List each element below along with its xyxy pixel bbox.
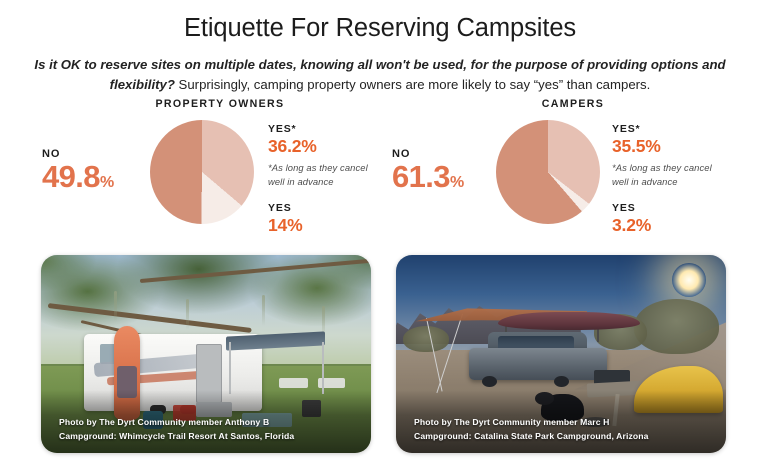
legend-label-yes-star: YES*	[268, 123, 368, 135]
truck-tire	[482, 376, 497, 387]
canoe	[498, 312, 640, 330]
no-value-number: 61.3	[392, 159, 450, 194]
photo-campground: Campground: Catalina State Park Campgrou…	[414, 430, 726, 443]
no-callout-campers: NO 61.3%	[392, 148, 464, 192]
no-callout-property-owners: NO 49.8%	[42, 148, 114, 192]
desert-bush	[634, 299, 720, 354]
legend-note-yes-star: *As long as they cancel well in advance	[612, 161, 712, 188]
legend-note-line2: well in advance	[268, 175, 368, 189]
photo-credit: Photo by The Dyrt Community member Antho…	[59, 416, 371, 429]
photo-card-marc-h[interactable]: Photo by The Dyrt Community member Marc …	[396, 255, 726, 453]
legend-item-yes: YES 3.2%	[612, 202, 712, 237]
chart-heading-campers: CAMPERS	[372, 98, 752, 110]
subtitle-answer: Surprisingly, camping property owners ar…	[175, 77, 650, 92]
chart-heading-property-owners: PROPERTY OWNERS	[0, 98, 380, 110]
charts-row: PROPERTY OWNERS NO 49.8% YES* 36.2% *As …	[0, 96, 760, 246]
spanish-moss	[262, 295, 265, 327]
subtitle: Is it OK to reserve sites on multiple da…	[30, 55, 730, 95]
pickup-truck	[469, 348, 608, 380]
header: Etiquette For Reserving Campsites Is it …	[0, 0, 760, 95]
legend-note-yes-star: *As long as they cancel well in advance	[268, 161, 368, 188]
no-value-text: 49.8%	[42, 161, 114, 192]
spanish-moss	[186, 299, 189, 331]
legend-value-yes: 14%	[268, 215, 368, 237]
legend-note-line2: well in advance	[612, 175, 712, 189]
photo-campground: Campground: Whimcycle Trail Resort At Sa…	[59, 430, 371, 443]
photo-credit: Photo by The Dyrt Community member Marc …	[414, 416, 726, 429]
legend-value-yes: 3.2%	[612, 215, 712, 237]
legend-item-yes-star: YES* 35.5% *As long as they cancel well …	[612, 123, 712, 188]
sun	[672, 263, 706, 297]
spanish-moss	[114, 291, 117, 323]
awning-post	[322, 342, 324, 393]
no-percent-symbol: %	[100, 174, 114, 191]
pie-chart-property-owners	[150, 120, 254, 224]
photo-caption-anthony-b: Photo by The Dyrt Community member Antho…	[41, 390, 371, 453]
awning-post	[229, 342, 231, 393]
pie-chart-campers	[496, 120, 600, 224]
no-value-text: 61.3%	[392, 161, 464, 192]
distant-rv	[279, 378, 309, 388]
photos-row: Photo by The Dyrt Community member Antho…	[0, 255, 760, 457]
legend-note-line1: *As long as they cancel	[612, 161, 712, 175]
legend-note-line1: *As long as they cancel	[268, 161, 368, 175]
legend-item-yes-star: YES* 36.2% *As long as they cancel well …	[268, 123, 368, 188]
legend-value-yes-star: 35.5%	[612, 136, 712, 158]
photo-caption-marc-h: Photo by The Dyrt Community member Marc …	[396, 390, 726, 453]
legend-label-yes: YES	[612, 202, 712, 214]
legend-campers: YES* 35.5% *As long as they cancel well …	[612, 123, 712, 237]
legend-label-yes: YES	[268, 202, 368, 214]
legend-value-yes-star: 36.2%	[268, 136, 368, 158]
no-percent-symbol: %	[450, 174, 464, 191]
desert-bush	[403, 326, 449, 352]
chart-property-owners: PROPERTY OWNERS NO 49.8% YES* 36.2% *As …	[0, 96, 380, 246]
legend-item-yes: YES 14%	[268, 202, 368, 237]
legend-property-owners: YES* 36.2% *As long as they cancel well …	[268, 123, 368, 237]
infographic-root: Etiquette For Reserving Campsites Is it …	[0, 0, 760, 469]
page-title: Etiquette For Reserving Campsites	[0, 13, 760, 44]
photo-card-anthony-b[interactable]: Photo by The Dyrt Community member Antho…	[41, 255, 371, 453]
legend-label-yes-star: YES*	[612, 123, 712, 135]
chart-campers: CAMPERS NO 61.3% YES* 35.5% *As long as …	[372, 96, 752, 246]
truck-tire	[554, 376, 569, 387]
no-value-number: 49.8	[42, 159, 100, 194]
